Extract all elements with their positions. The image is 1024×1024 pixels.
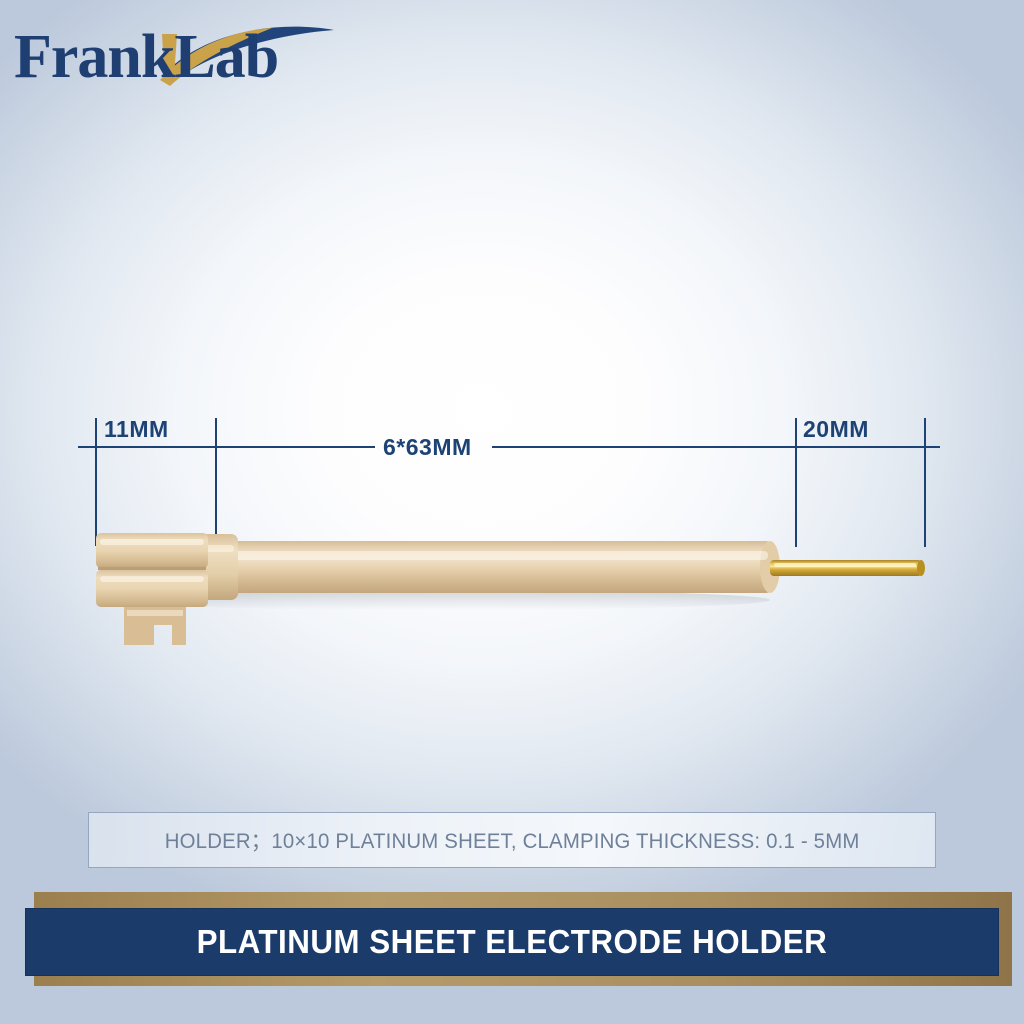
product-body-shaft xyxy=(212,541,772,593)
banner-title-text: PLATINUM SHEET ELECTRODE HOLDER xyxy=(197,923,828,961)
clamp-upper-highlight xyxy=(100,539,204,545)
product-image-canvas: FrankLab 11MM 6*63MM 20MM xyxy=(0,0,1024,1024)
clamp-bottom-tab-highlight xyxy=(127,610,183,616)
brass-pin xyxy=(770,560,922,576)
clamp-upper-jaw xyxy=(96,533,208,568)
caption-text: HOLDER；10×10 PLATINUM SHEET, CLAMPING TH… xyxy=(165,825,860,855)
specification-caption: HOLDER；10×10 PLATINUM SHEET, CLAMPING TH… xyxy=(88,812,936,868)
clamp-lower-highlight xyxy=(100,576,204,582)
product-photo xyxy=(0,0,1024,1024)
product-title-banner: PLATINUM SHEET ELECTRODE HOLDER xyxy=(25,908,999,976)
brass-pin-tip xyxy=(917,560,925,576)
brass-pin-highlight xyxy=(774,563,916,567)
clamp-jaw-gap xyxy=(98,567,206,570)
product-body-highlight xyxy=(216,551,768,560)
clamp-lower-jaw xyxy=(96,570,208,607)
